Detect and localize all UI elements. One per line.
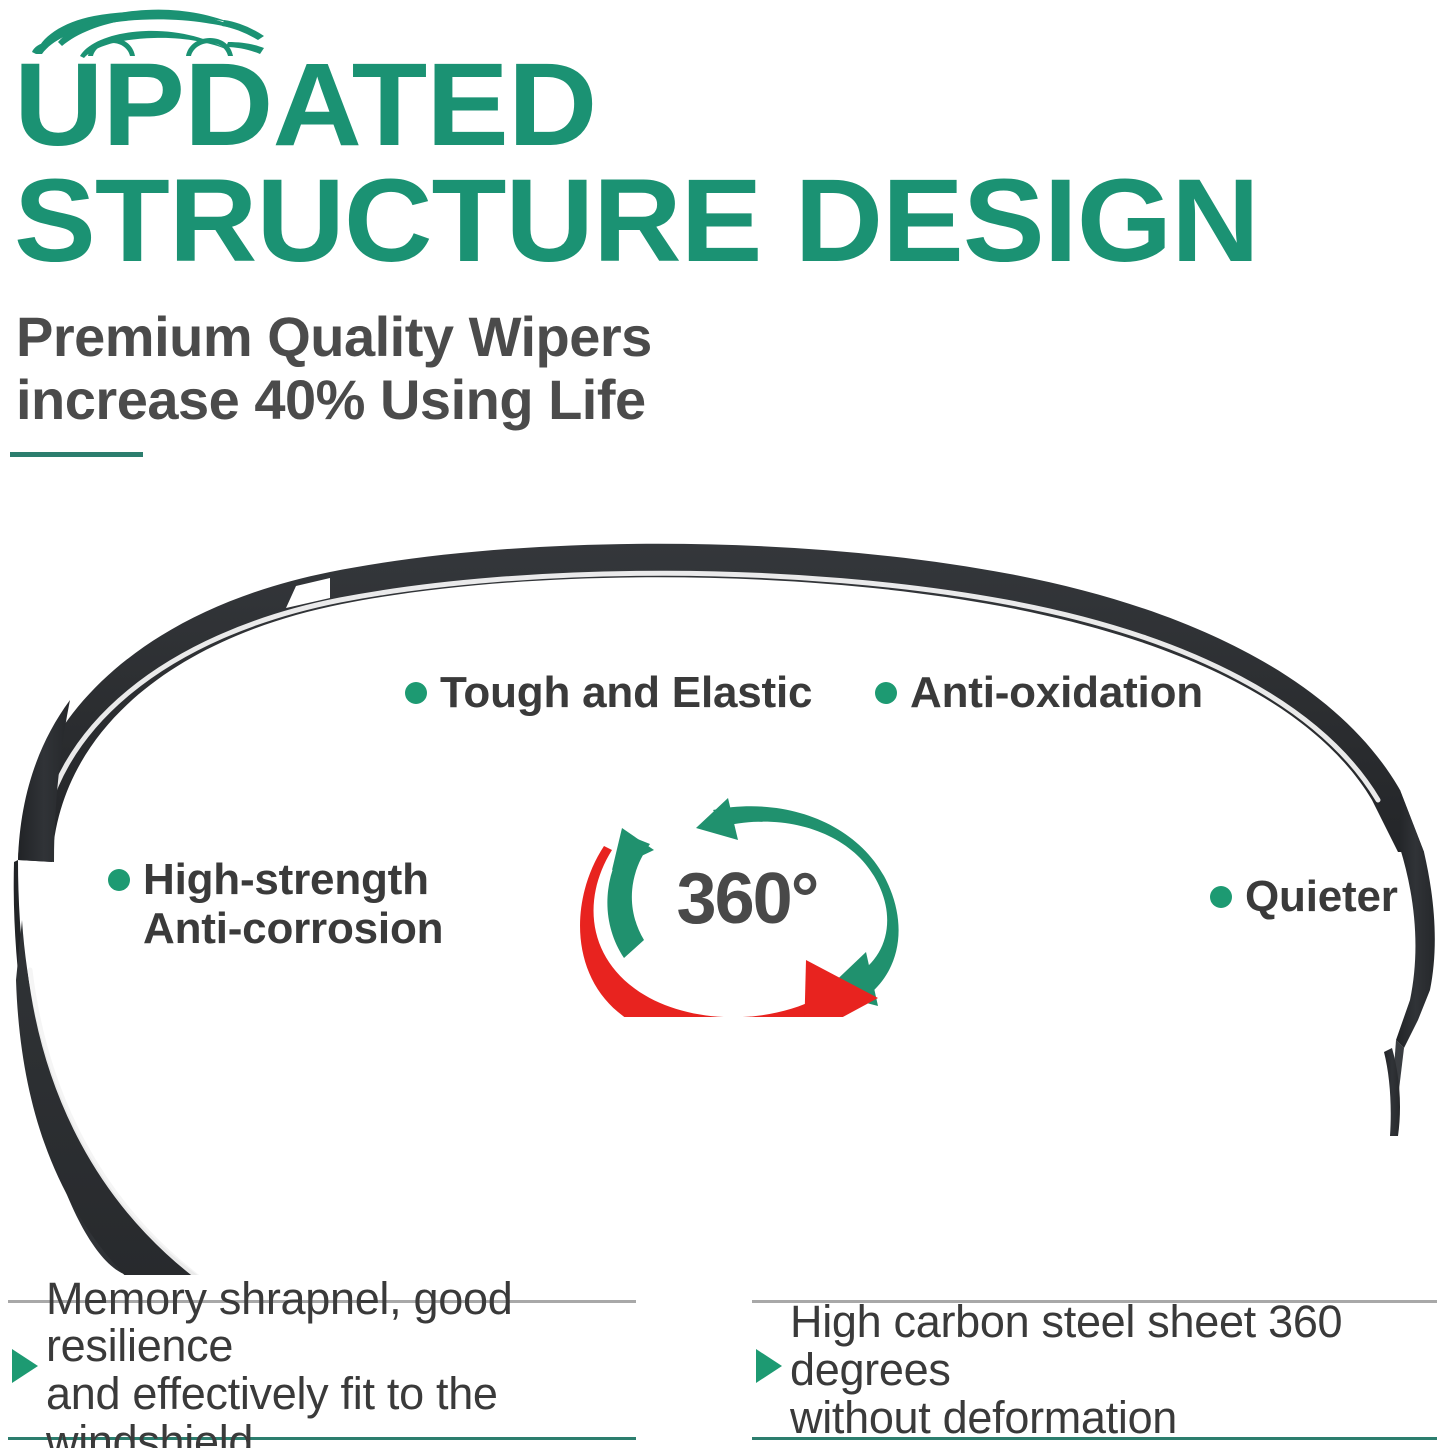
- feature-quieter: Quieter: [1210, 872, 1398, 921]
- subtitle-underline-rule: [10, 452, 143, 457]
- infographic-page: UPDATED STRUCTURE DESIGN Premium Quality…: [0, 0, 1445, 1448]
- feature-label: Anti-oxidation: [910, 668, 1203, 717]
- caption-text: Memory shrapnel, good resilience and eff…: [46, 1275, 636, 1448]
- feature-label: Tough and Elastic: [440, 668, 812, 717]
- page-title: UPDATED STRUCTURE DESIGN: [14, 48, 1444, 279]
- triangle-right-icon: [12, 1349, 38, 1383]
- header-section: UPDATED STRUCTURE DESIGN Premium Quality…: [0, 0, 1445, 500]
- subtitle-line-2: increase 40% Using Life: [16, 369, 1016, 432]
- bullet-dot-icon: [108, 869, 130, 891]
- title-line-2: STRUCTURE DESIGN: [14, 164, 1445, 280]
- feature-anti-oxidation: Anti-oxidation: [875, 668, 1203, 717]
- subtitle-line-1: Premium Quality Wipers: [16, 306, 1016, 369]
- subtitle: Premium Quality Wipers increase 40% Usin…: [16, 306, 1016, 431]
- captions-section: Memory shrapnel, good resilience and eff…: [0, 1300, 1445, 1448]
- feature-tough-and-elastic: Tough and Elastic: [405, 668, 812, 717]
- bullet-dot-icon: [1210, 886, 1232, 908]
- title-line-1: UPDATED: [14, 48, 1445, 164]
- bullet-dot-icon: [875, 682, 897, 704]
- bullet-dot-icon: [405, 682, 427, 704]
- feature-high-strength-anti-corrosion: High-strength Anti-corrosion: [108, 855, 443, 954]
- 360-degree-badge: 360°: [578, 792, 928, 1017]
- triangle-right-icon: [756, 1349, 782, 1383]
- caption-memory-shrapnel: Memory shrapnel, good resilience and eff…: [8, 1300, 636, 1440]
- caption-text: High carbon steel sheet 360 degrees with…: [790, 1298, 1437, 1441]
- feature-label: High-strength Anti-corrosion: [143, 855, 443, 954]
- 360-rotation-arrows-icon: [578, 792, 928, 1017]
- feature-label: Quieter: [1245, 872, 1398, 921]
- caption-high-carbon-steel: High carbon steel sheet 360 degrees with…: [752, 1300, 1437, 1440]
